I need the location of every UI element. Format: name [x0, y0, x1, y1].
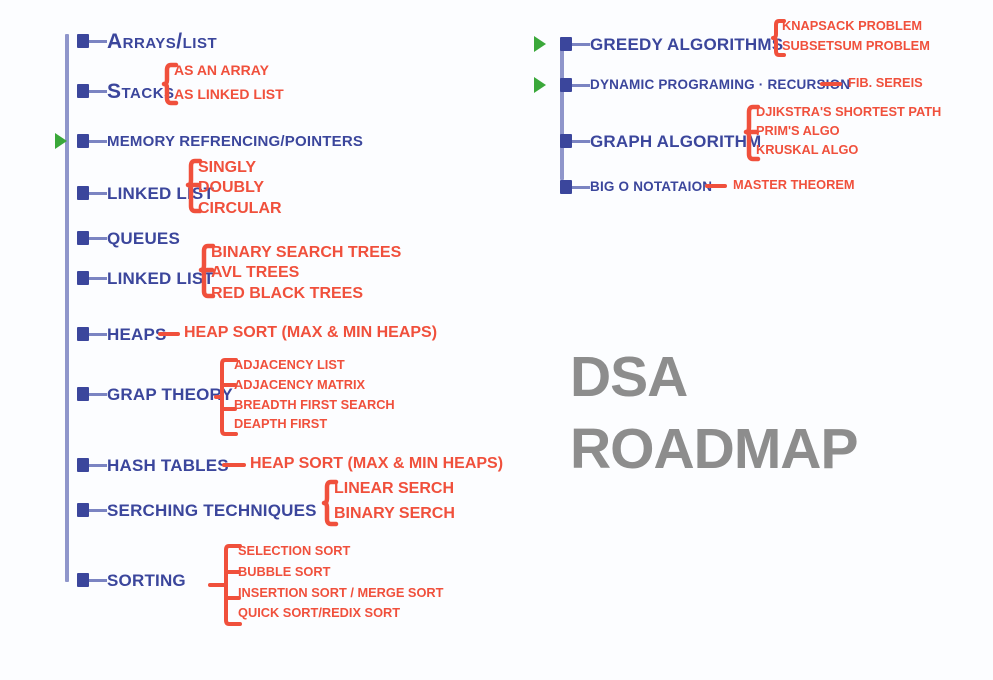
node-row-sorting[interactable]: SORTING — [55, 567, 186, 593]
leaf-item: SINGLY — [198, 159, 282, 176]
leafgroup-linked-list: SINGLY DOUBLY CIRCULAR — [198, 159, 282, 217]
node-stem — [89, 579, 107, 582]
leaf-item: CIRCULAR — [198, 200, 282, 217]
leafgroup-stacks: AS AN ARRAY AS LINKED LIST — [174, 63, 284, 102]
node-label: BIG O NOTATAION — [590, 180, 712, 194]
leaf-item: MASTER THEOREM — [733, 178, 855, 192]
spine-node — [77, 327, 89, 341]
leafgroup-grap-theory: ADJACENCY LIST ADJACENCY MATRIX BREADTH … — [234, 358, 395, 431]
green-triangle-icon — [55, 133, 67, 149]
marker-slot — [55, 128, 77, 154]
node-row-memory-refrencing[interactable]: MEMORY REFRENCING/POINTERS — [55, 128, 363, 154]
leafgroup-greedy-algorithms: KNAPSACK PROBLEM SUBSETSUM PROBLEM — [782, 19, 930, 53]
spine-node — [77, 84, 89, 98]
node-stem — [89, 140, 107, 143]
connector-dash-heaps — [158, 332, 180, 336]
leaf-item: ADJACENCY MATRIX — [234, 378, 395, 392]
spine-node — [77, 458, 89, 472]
watermark-title-line2: ROADMAP — [570, 420, 858, 478]
spine-node — [77, 503, 89, 517]
node-stem — [572, 140, 590, 143]
leaf-item: AS AN ARRAY — [174, 63, 284, 78]
node-label: HASH TABLES — [107, 457, 229, 474]
spine-node — [560, 37, 572, 51]
marker-slot — [55, 28, 77, 54]
marker-slot — [55, 321, 77, 347]
leaf-item: LINEAR SERCH — [334, 480, 455, 497]
node-row-dynamic-programing[interactable]: DYNAMIC PROGRAMING · RECURSION — [534, 72, 850, 98]
node-label: GREEDY ALGORITHMS — [590, 36, 783, 53]
green-triangle-icon — [534, 77, 546, 93]
node-label: SORTING — [107, 572, 186, 589]
node-row-heaps[interactable]: HEAPS — [55, 321, 167, 347]
node-row-graph-algorithm[interactable]: GRAPH ALGORITHM — [534, 128, 761, 154]
leaf-item: SELECTION SORT — [238, 544, 443, 558]
spine-node — [77, 573, 89, 587]
marker-slot — [55, 497, 77, 523]
node-stem — [89, 333, 107, 336]
leaf-item: INSERTION SORT / MERGE SORT — [238, 586, 443, 600]
marker-slot — [55, 452, 77, 478]
node-row-queues[interactable]: QUEUES — [55, 225, 180, 251]
leaf-item: SUBSETSUM PROBLEM — [782, 39, 930, 53]
node-stem — [89, 509, 107, 512]
node-label: MEMORY REFRENCING/POINTERS — [107, 134, 363, 149]
leaf-item: DOUBLY — [198, 179, 282, 196]
spine-node — [77, 34, 89, 48]
connector-dash-hash-tables — [222, 463, 246, 467]
roadmap-canvas: Arrays/list Stacks AS AN ARRAY AS LINKED… — [0, 0, 993, 680]
node-row-hash-tables[interactable]: HASH TABLES — [55, 452, 229, 478]
marker-slot — [534, 128, 560, 154]
leaf-item: FIB. SEREIS — [848, 76, 923, 90]
node-label: SERCHING TECHNIQUES — [107, 502, 317, 519]
leafgroup-graph-algorithm: DJIKSTRA'S SHORTEST PATH PRIM'S ALGO KRU… — [756, 105, 941, 156]
marker-slot — [55, 381, 77, 407]
leafgroup-sorting: SELECTION SORT BUBBLE SORT INSERTION SOR… — [238, 544, 443, 620]
node-stem — [89, 237, 107, 240]
leaf-item: PRIM'S ALGO — [756, 124, 941, 138]
leaf-item: AS LINKED LIST — [174, 87, 284, 102]
node-label: LINKED LIST — [107, 270, 214, 287]
leaf-item: AVL TREES — [211, 264, 401, 281]
node-stem — [89, 90, 107, 93]
leafgroup-serching-techniques: LINEAR SERCH BINARY SERCH — [334, 480, 455, 523]
marker-slot — [55, 265, 77, 291]
node-stem — [89, 464, 107, 467]
node-row-trees[interactable]: LINKED LIST — [55, 265, 214, 291]
node-label: QUEUES — [107, 230, 180, 247]
node-stem — [572, 84, 590, 87]
node-row-greedy-algorithms[interactable]: GREEDY ALGORITHMS — [534, 31, 783, 57]
marker-slot — [55, 567, 77, 593]
leaf-item: DJIKSTRA'S SHORTEST PATH — [756, 105, 941, 119]
spine-node — [560, 180, 572, 194]
spine-node — [77, 387, 89, 401]
spine-node — [560, 78, 572, 92]
node-stem — [89, 40, 107, 43]
node-stem — [572, 43, 590, 46]
right-spine — [560, 40, 564, 180]
spine-node — [560, 134, 572, 148]
marker-slot — [534, 174, 560, 200]
node-label: GRAPH ALGORITHM — [590, 133, 761, 150]
leaf-item: BINARY SERCH — [334, 505, 455, 522]
node-row-big-o-notataion[interactable]: BIG O NOTATAION — [534, 174, 712, 200]
node-row-serching-techniques[interactable]: SERCHING TECHNIQUES — [55, 497, 317, 523]
spine-node — [77, 231, 89, 245]
leaf-item: QUICK SORT/REDIX SORT — [238, 606, 443, 620]
node-stem — [89, 277, 107, 280]
node-label: Arrays/list — [107, 31, 217, 52]
leaf-item: RED BLACK TREES — [211, 285, 401, 302]
node-label: DYNAMIC PROGRAMING · RECURSION — [590, 78, 850, 92]
leaf-item: BREADTH FIRST SEARCH — [234, 398, 395, 412]
leaf-item: KRUSKAL ALGO — [756, 143, 941, 157]
leaf-item: ADJACENCY LIST — [234, 358, 395, 372]
node-stem — [89, 393, 107, 396]
leaf-item: KNAPSACK PROBLEM — [782, 19, 930, 33]
leaf-item: BUBBLE SORT — [238, 565, 443, 579]
marker-slot — [55, 78, 77, 104]
node-row-grap-theory[interactable]: GRAP THEORY — [55, 381, 233, 407]
leaf-item: DEAPTH FIRST — [234, 417, 395, 431]
green-triangle-icon — [534, 36, 546, 52]
marker-slot — [55, 225, 77, 251]
leafgroup-trees: BINARY SEARCH TREES AVL TREES RED BLACK … — [211, 244, 401, 302]
node-stem — [89, 192, 107, 195]
marker-slot — [55, 180, 77, 206]
marker-slot — [534, 31, 560, 57]
connector-dash-big-o — [705, 184, 727, 188]
node-stem — [572, 186, 590, 189]
spine-node — [77, 186, 89, 200]
node-row-stacks[interactable]: Stacks — [55, 78, 175, 104]
node-row-arrays-list[interactable]: Arrays/list — [55, 28, 217, 54]
leaf-item: HEAP SORT (MAX & MIN HEAPS) — [184, 324, 437, 341]
node-label: GRAP THEORY — [107, 386, 233, 403]
spine-node — [77, 134, 89, 148]
leaf-item: HEAP SORT (MAX & MIN HEAPS) — [250, 455, 503, 472]
watermark-title-line1: DSA — [570, 348, 687, 406]
connector-dash-dynamic-programing — [820, 82, 842, 86]
leaf-item: BINARY SEARCH TREES — [211, 244, 401, 261]
spine-node — [77, 271, 89, 285]
marker-slot — [534, 72, 560, 98]
